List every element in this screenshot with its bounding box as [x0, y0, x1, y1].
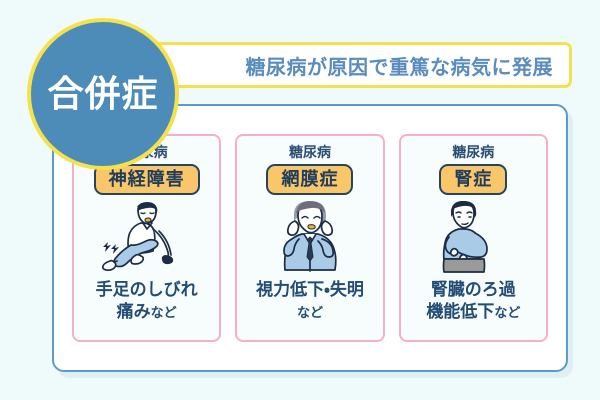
card-description: 腎臓のろ過 機能低下など: [426, 279, 520, 323]
card-desc-line1: 視力低下・失明: [256, 279, 364, 301]
section-circle-badge-label: 合併症: [47, 76, 158, 112]
infographic-stage: 糖尿病が原因で重篤な病気に発展 糖尿病 神経障害: [0, 0, 600, 400]
card-badge: 腎症: [439, 164, 507, 196]
card-eyebrow: 糖尿病: [452, 144, 494, 161]
card-description: 手足のしびれ 痛みなど: [96, 279, 198, 323]
card-description: 視力低下・失明 など: [256, 279, 364, 323]
card-desc-line1: 腎臓のろ過: [426, 279, 520, 301]
card-desc-line2-wrap: など: [256, 301, 364, 323]
complication-card-retinopathy: 糖尿病 網膜症: [235, 134, 384, 342]
person-holding-head-icon: [245, 199, 375, 273]
card-desc-line2: 機能低下: [426, 302, 494, 321]
person-sitting-leg-pain-icon: [82, 199, 212, 273]
card-desc-line2-wrap: 機能低下など: [426, 301, 520, 323]
section-circle-badge: 合併症: [27, 18, 179, 170]
card-desc-line2-wrap: 痛みなど: [96, 301, 198, 323]
card-desc-suffix: など: [151, 305, 177, 320]
person-holding-abdomen-icon: [408, 199, 538, 273]
complication-card-nephropathy: 糖尿病 腎症: [399, 134, 548, 342]
card-eyebrow: 糖尿病: [289, 144, 331, 161]
card-badge: 網膜症: [266, 164, 353, 196]
card-desc-line1: 手足のしびれ: [96, 279, 198, 301]
card-desc-line2: 痛み: [117, 302, 151, 321]
card-desc-suffix: など: [297, 305, 323, 320]
header-banner-text: 糖尿病が原因で重篤な病気に発展: [246, 51, 554, 80]
card-desc-suffix: など: [494, 305, 520, 320]
